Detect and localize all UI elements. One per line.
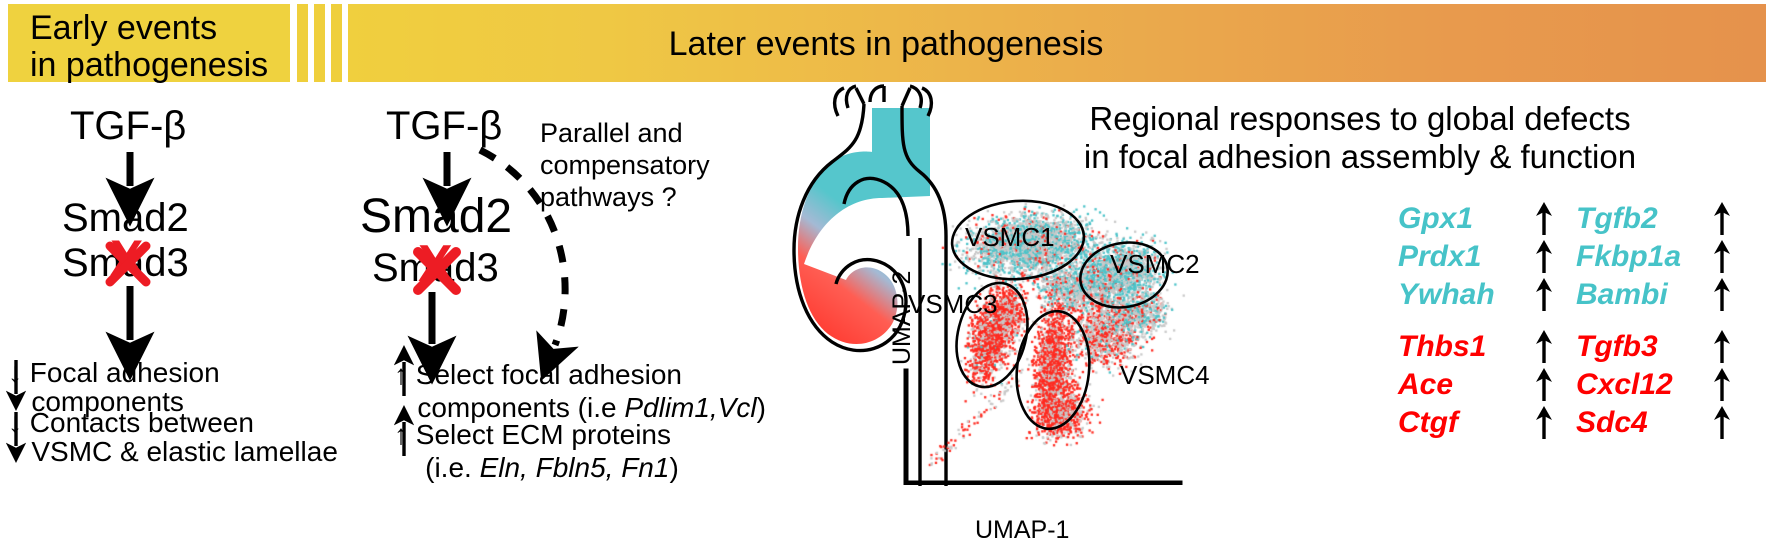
early-ligand-label: TGF-β <box>70 105 186 147</box>
gene-name-label: Tgfb2 <box>1576 202 1658 236</box>
up-arrow-icon <box>1712 240 1732 274</box>
gene-entry-prdx1: Prdx1 <box>1398 240 1576 274</box>
umap-label-vsmc3: VSMC3 <box>908 289 998 320</box>
later-outcome-1: ↑ Select focal adhesion components (i.e … <box>394 358 766 424</box>
gene-entry-ywhah: Ywhah <box>1398 278 1576 312</box>
later-outcome-2-line2-post: ) <box>669 452 678 483</box>
gene-entry-fkbp1a: Fkbp1a <box>1576 240 1754 274</box>
gene-entry-tgfb3: Tgfb3 <box>1576 330 1754 364</box>
gene-name-label: Ctgf <box>1398 406 1458 440</box>
gene-name-label: Prdx1 <box>1398 240 1481 274</box>
gene-row: YwhahBambi <box>1398 276 1758 314</box>
cyan-gene-block: Gpx1Tgfb2Prdx1Fkbp1aYwhahBambi <box>1398 200 1758 314</box>
gene-entry-cxcl12: Cxcl12 <box>1576 368 1754 402</box>
later-outcome-1-line2-post: ) <box>757 392 766 423</box>
later-outcome-1-line1: ↑ Select focal adhesion <box>394 359 682 390</box>
gene-name-label: Tgfb3 <box>1576 330 1658 364</box>
up-arrow-icon <box>1534 330 1554 364</box>
early-outcome-2: ↓ Contacts between VSMC & elastic lamell… <box>8 408 338 467</box>
later-outcome-2-line2-pre: (i.e. <box>394 452 480 483</box>
umap-label-vsmc4: VSMC4 <box>1120 360 1210 391</box>
up-arrow-icon <box>1712 202 1732 236</box>
gene-name-label: Cxcl12 <box>1576 368 1673 402</box>
gene-name-label: Fkbp1a <box>1576 240 1681 274</box>
banner-later-title: Later events in pathogenesis <box>0 26 1772 63</box>
gene-entry-thbs1: Thbs1 <box>1398 330 1576 364</box>
up-arrow-icon <box>1534 406 1554 440</box>
umap-cluster-ellipse-vsmc4 <box>1011 308 1095 433</box>
gene-entry-ace: Ace <box>1398 368 1576 402</box>
up-arrow-icon <box>1712 406 1732 440</box>
gene-entry-sdc4: Sdc4 <box>1576 406 1754 440</box>
gene-name-label: Gpx1 <box>1398 202 1473 236</box>
early-knockout-x-mark: X <box>110 232 143 285</box>
right-panel-heading: Regional responses to global defectsin f… <box>950 100 1770 177</box>
gene-name-label: Ace <box>1398 368 1453 402</box>
up-arrow-icon <box>1534 368 1554 402</box>
gene-row: Gpx1Tgfb2 <box>1398 200 1758 238</box>
umap-label-vsmc2: VSMC2 <box>1110 249 1200 280</box>
compensatory-pathways-note: Parallel andcompensatorypathways ? <box>540 118 710 214</box>
banner: Early eventsin pathogenesis Later events… <box>0 4 1772 82</box>
later-outcome-2-line1: ↑ Select ECM proteins <box>394 419 671 450</box>
gene-entry-ctgf: Ctgf <box>1398 406 1576 440</box>
later-knockout-x-mark: X <box>418 237 453 292</box>
later-outcome-2: ↑ Select ECM proteins (i.e. Eln, Fbln5, … <box>394 418 679 484</box>
gene-entry-bambi: Bambi <box>1576 278 1754 312</box>
umap-label-vsmc1: VSMC1 <box>965 222 1055 253</box>
up-arrow-icon <box>1534 240 1554 274</box>
gene-lists: Gpx1Tgfb2Prdx1Fkbp1aYwhahBambi Thbs1Tgfb… <box>1398 200 1758 456</box>
umap-x-axis-label: UMAP-1 <box>975 516 1069 545</box>
umap-y-axis-label: UMAP-2 <box>888 271 917 365</box>
gene-name-label: Thbs1 <box>1398 330 1486 364</box>
gene-row: CtgfSdc4 <box>1398 404 1758 442</box>
gene-row: Prdx1Fkbp1a <box>1398 238 1758 276</box>
later-ligand-label: TGF-β <box>386 105 502 147</box>
gene-row: AceCxcl12 <box>1398 366 1758 404</box>
gene-name-label: Ywhah <box>1398 278 1495 312</box>
gene-entry-gpx1: Gpx1 <box>1398 202 1576 236</box>
red-gene-block: Thbs1Tgfb3AceCxcl12CtgfSdc4 <box>1398 328 1758 442</box>
gene-entry-tgfb2: Tgfb2 <box>1576 202 1754 236</box>
gene-name-label: Sdc4 <box>1576 406 1648 440</box>
later-outcome-2-genes: Eln, Fbln5, Fn1 <box>480 452 670 483</box>
up-arrow-icon <box>1712 368 1732 402</box>
gene-name-label: Bambi <box>1576 278 1668 312</box>
up-arrow-icon <box>1534 202 1554 236</box>
up-arrow-icon <box>1712 278 1732 312</box>
up-arrow-icon <box>1534 278 1554 312</box>
gene-row: Thbs1Tgfb3 <box>1398 328 1758 366</box>
up-arrow-icon <box>1712 330 1732 364</box>
